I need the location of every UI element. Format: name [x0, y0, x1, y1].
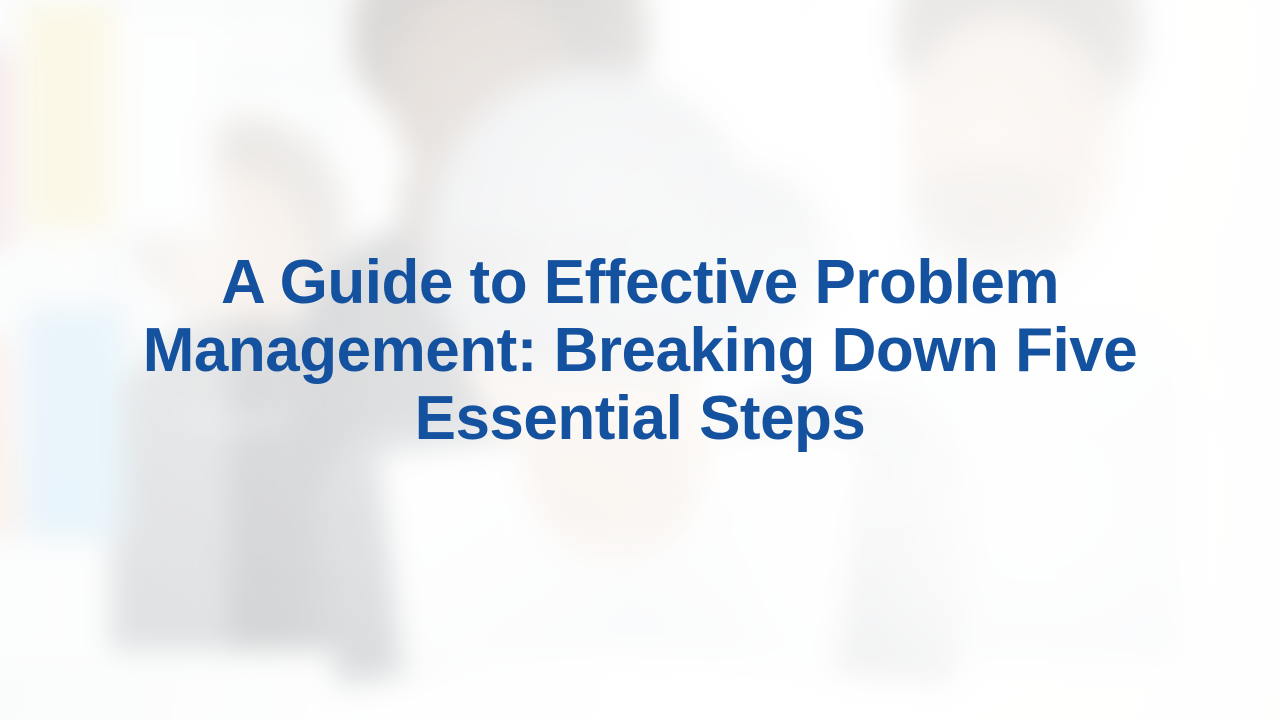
headline-container: A Guide to Effective Problem Management:…: [0, 249, 1280, 453]
sticky-note-white-2: [0, 540, 110, 660]
page-title: A Guide to Effective Problem Management:…: [60, 249, 1220, 453]
hero-banner: A Guide to Effective Problem Management:…: [0, 0, 1280, 720]
sticky-note-white-1: [116, 16, 212, 236]
sticky-note-yellow: [24, 2, 116, 232]
sticky-note-pink: [0, 48, 12, 248]
